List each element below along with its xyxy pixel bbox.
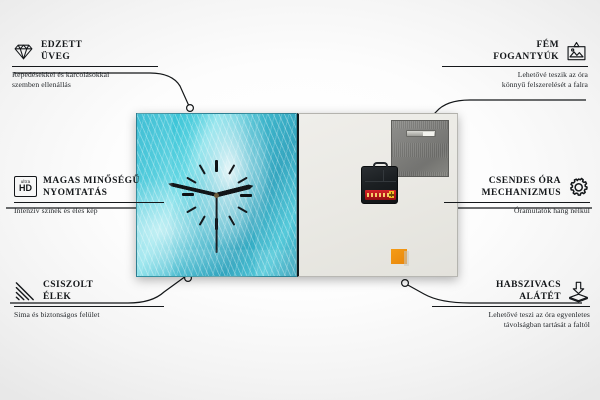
feature-subtitle-line1: Lehetővé teszik az óra (442, 70, 588, 80)
feature-silent-mechanism: CSENDES ÓRA MECHANIZMUS Óramutatók hang … (444, 176, 590, 216)
hanger-slot (406, 130, 436, 137)
feature-subtitle-line2: szemben ellenállás (12, 80, 158, 90)
clock-tick-7 (198, 164, 235, 226)
clock-back-panel (297, 113, 458, 277)
feature-metal-handles: FÉM FOGANTYÚK Lehetővé teszik az óra kön… (442, 40, 588, 89)
product-image (136, 113, 458, 277)
ultra-hd-icon-main-text: HD (19, 184, 32, 193)
feature-title-line2: NYOMTATÁS (43, 188, 140, 200)
feature-divider (14, 306, 164, 307)
gear-icon (567, 176, 590, 199)
clock-tick-8 (186, 177, 248, 214)
clock-minute-hand (167, 182, 217, 197)
clock-tick-1 (198, 164, 235, 226)
feature-tempered-glass: EDZETT ÜVEG Repedésekkel és karcolásokka… (12, 40, 158, 89)
ultra-hd-icon: ultra HD (14, 176, 37, 199)
feature-title-line2: MECHANIZMUS (482, 188, 561, 200)
feature-high-quality-print: ultra HD MAGAS MINŐSÉGŰ NYOMTATÁS Intenz… (14, 176, 164, 216)
connector-endpoint-tempered-glass (187, 105, 194, 112)
infographic-poster: EDZETT ÜVEG Repedésekkel és karcolásokka… (0, 0, 600, 400)
polished-edges-icon (14, 280, 37, 303)
clock-center-cap (214, 193, 219, 198)
foam-pad-icon (567, 280, 590, 303)
feature-title-line1: CSISZOLT (43, 280, 93, 292)
feature-title-line1: HABSZIVACS (496, 280, 561, 292)
mechanism-seam-vertical (383, 170, 384, 182)
foam-pad (391, 249, 407, 264)
clock-tick-2 (186, 177, 248, 214)
feature-polished-edges: CSISZOLT ÉLEK Sima és biztonságos felüle… (14, 280, 164, 320)
mechanism-seam (365, 181, 396, 182)
feature-title-line2: ÜVEG (41, 52, 82, 64)
battery-terminal (389, 191, 394, 198)
feature-title-line1: FÉM (493, 40, 559, 52)
feature-title-line2: ÉLEK (43, 292, 93, 304)
feature-title-line2: ALÁTÉT (496, 292, 561, 304)
feature-title-line1: CSENDES ÓRA (482, 176, 561, 188)
feature-title-line2: FOGANTYÚK (493, 52, 559, 64)
feature-subtitle-line1: Sima és biztonságos felület (14, 310, 164, 320)
clock-tick-5 (198, 164, 235, 226)
feature-subtitle-line2: könnyű felszerelését a falra (442, 80, 588, 90)
clock-second-hand (216, 195, 218, 253)
clock-hour-hand (216, 183, 254, 197)
diamond-icon (12, 40, 35, 63)
quartz-mechanism (361, 166, 398, 204)
feature-title-line1: MAGAS MINŐSÉGŰ (43, 176, 140, 188)
metal-hanger-plate (391, 120, 449, 177)
battery (365, 190, 396, 200)
clock-tick-9 (182, 194, 252, 196)
picture-hanger-icon (565, 40, 588, 63)
feature-divider (442, 66, 588, 67)
connector-endpoint-foam-underlay (402, 280, 409, 287)
clock-tick-12 (216, 160, 218, 230)
feature-divider (444, 202, 590, 203)
feature-title-line1: EDZETT (41, 40, 82, 52)
feature-divider (432, 306, 590, 307)
mechanism-hook (373, 162, 388, 169)
feature-subtitle-line2: távolságban tartását a faltól (432, 320, 590, 330)
feature-subtitle-line1: Repedésekkel és karcolásokkal (12, 70, 158, 80)
feature-divider (14, 202, 164, 203)
feature-foam-underlay: HABSZIVACS ALÁTÉT Lehetővé teszi az óra … (432, 280, 590, 329)
feature-subtitle-line1: Intenzív színek és éles kép (14, 206, 164, 216)
clock-tick-3 (182, 194, 252, 196)
clock-tick-10 (186, 177, 248, 214)
feature-subtitle-line1: Óramutatók hang nélkül (444, 206, 590, 216)
clock-tick-6 (216, 160, 218, 230)
clock-tick-4 (186, 177, 248, 214)
feature-divider (12, 66, 158, 67)
feature-subtitle-line1: Lehetővé teszi az óra egyenletes (432, 310, 590, 320)
clock-tick-11 (198, 164, 235, 226)
